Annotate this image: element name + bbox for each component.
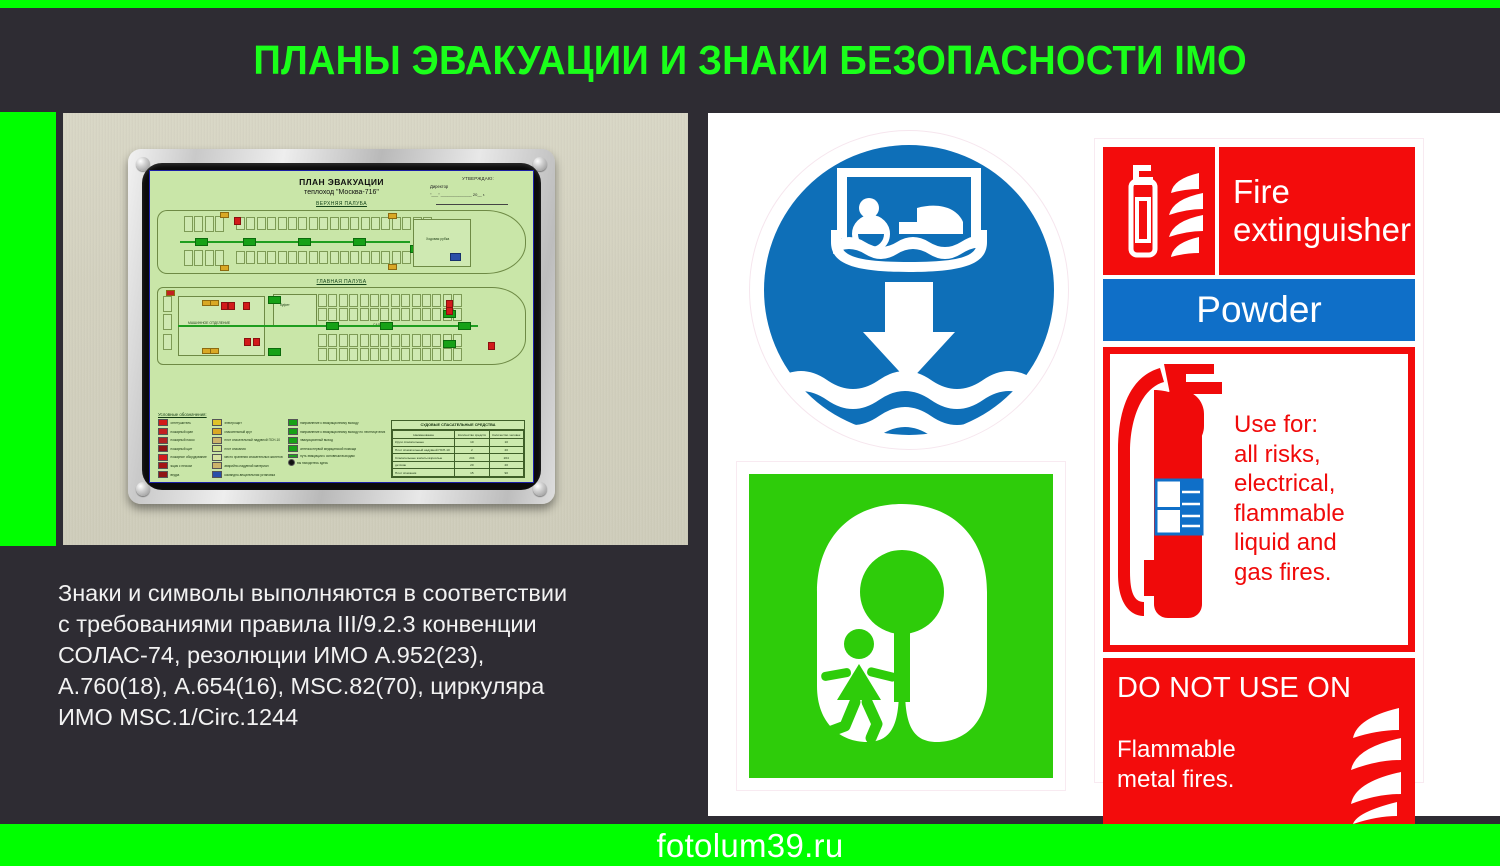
- cell-units: 15: [455, 469, 489, 477]
- cell-persons: 10: [489, 439, 524, 447]
- legend-item: плот спасательный надувной ПСН-10: [212, 437, 283, 444]
- table-row: Спасательные жилеты взрослые 204 204: [393, 454, 524, 462]
- legend-item-label: пожарный насос: [171, 438, 195, 442]
- legend-swatch-icon: [158, 428, 168, 435]
- legend-item: направление к эвакуационному выходу: [288, 419, 386, 426]
- cell-units: 2: [455, 446, 489, 454]
- legend-item-label: ящик с песком: [171, 464, 192, 468]
- watermark-text: fotolum39.ru: [656, 829, 843, 862]
- sign-outline: [749, 130, 1069, 450]
- page-title: ПЛАНЫ ЭВАКУАЦИИ И ЗНАКИ БЕЗОПАСНОСТИ IMO: [253, 37, 1247, 84]
- caption-line: СОЛАС-74, резолюции ИМО А.952(23),: [58, 640, 658, 671]
- main-deck-diagram: МАШИННОЕ ОТДЕЛЕНИЕ буфет САЛОН: [157, 287, 526, 365]
- legend-item-label: аварийно-надувной материал: [224, 464, 268, 468]
- table-row: Круги спасательные 10 10: [393, 439, 524, 447]
- legend-item: вы находитесь здесь: [288, 459, 386, 466]
- legend-column-3: направление к эвакуационному выходу напр…: [288, 419, 386, 478]
- legend-item: пожарное оборудование: [158, 454, 207, 461]
- legend-item: место хранения спасательных жилетов: [212, 454, 283, 461]
- legend-swatch-icon: [288, 454, 298, 458]
- legend-item-label: ведра: [171, 473, 180, 477]
- use-for-heading: Use for:: [1234, 410, 1408, 440]
- legend-item-label: путь эвакуации к основным выходам: [300, 454, 355, 458]
- plan-metal-frame: ПЛАН ЭВАКУАЦИИ теплоход "Москва-716" УТВ…: [128, 149, 555, 504]
- col-units: Количество средств: [455, 431, 489, 439]
- legend-item-label: место хранения спасательных жилетов: [224, 455, 282, 459]
- deck-label-main: ГЛАВНАЯ ПАЛУБА: [150, 279, 533, 285]
- left-accent-stripe: [0, 112, 56, 546]
- cell-name: Плот спасательный надувной ПСН-10: [393, 446, 455, 454]
- legend-item-label: пожарное оборудование: [171, 455, 207, 459]
- legend-column-2: электрощит спасательный круг плот спасат…: [212, 419, 283, 478]
- approval-signature-rule: [436, 204, 508, 205]
- upper-deck-diagram: Ходовая рубка: [157, 210, 526, 274]
- lsa-table-caption: СУДОВЫЕ СПАСАТЕЛЬНЫЕ СРЕДСТВА: [392, 421, 524, 430]
- legend-swatch-icon: [212, 419, 222, 426]
- slide-root: ПЛАНЫ ЭВАКУАЦИИ И ЗНАКИ БЕЗОПАСНОСТИ IMO…: [0, 0, 1500, 866]
- legend-swatch-icon: [212, 437, 222, 444]
- legend-item-label: эвакуационный выход: [300, 438, 333, 442]
- legend-swatch-icon: [158, 471, 168, 478]
- use-for-text: Use for: all risks, electrical, flammabl…: [1228, 354, 1408, 645]
- use-for-panel: Use for: all risks, electrical, flammabl…: [1103, 347, 1415, 652]
- legend-swatch-icon: [288, 428, 298, 435]
- flame-icon: [1339, 704, 1405, 824]
- cell-units: 10: [455, 439, 489, 447]
- caption-line: ИМО MSC.1/Circ.1244: [58, 702, 658, 733]
- legend-swatch-icon: [212, 462, 222, 469]
- cell-name: Плот спасания: [393, 469, 455, 477]
- use-for-line: all risks,: [1234, 440, 1408, 470]
- legend-item-label: направление к эвакуационному выходу по л…: [300, 430, 385, 434]
- legend-item-label: аптечка первой медицинской помощи: [300, 447, 356, 451]
- plan-sheet: ПЛАН ЭВАКУАЦИИ теплоход "Москва-716" УТВ…: [149, 170, 534, 483]
- legend-item-label: плот спасательный надувной ПСН-10: [224, 438, 280, 442]
- legend-swatch-icon: [212, 454, 222, 461]
- legend-swatch-icon: [288, 437, 298, 444]
- legend-item: аптечка первой медицинской помощи: [288, 445, 386, 452]
- cell-persons: 90: [489, 469, 524, 477]
- legend-item-label: плот спасания: [224, 447, 245, 451]
- legend-item: направление к эвакуационному выходу по л…: [288, 428, 386, 435]
- plan-legend: Условные обозначения: огнетушитель пожар…: [158, 412, 403, 478]
- plan-bezel: ПЛАН ЭВАКУАЦИИ теплоход "Москва-716" УТВ…: [142, 163, 541, 490]
- table-row: Плот спасательный надувной ПСН-10 2 20: [393, 446, 524, 454]
- legend-item-label: огнетушитель: [171, 421, 191, 425]
- title-band: ПЛАНЫ ЭВАКУАЦИИ И ЗНАКИ БЕЗОПАСНОСТИ IMO: [0, 8, 1500, 112]
- approval-block: УТВЕРЖДАЮ: Директор "___" ______________…: [430, 176, 526, 205]
- col-name: Наименование: [393, 431, 455, 439]
- legend-item: аварийно-надувной материал: [212, 462, 283, 469]
- legend-item: ящик с песком: [158, 462, 207, 469]
- you-are-here-icon: [288, 459, 295, 466]
- legend-item: ведра: [158, 471, 207, 478]
- approval-date: "___" ______________ 20__ г.: [430, 192, 526, 197]
- cell-persons: 20: [489, 446, 524, 454]
- signs-panel: Fire extinguisher Powder: [708, 113, 1500, 816]
- approval-word: УТВЕРЖДАЮ:: [430, 176, 526, 181]
- legend-item-label: направление к эвакуационному выходу: [300, 421, 358, 425]
- cell-units: 20: [455, 461, 489, 469]
- legend-item: эвакуационный выход: [288, 437, 386, 444]
- evacuation-plan-photo: ПЛАН ЭВАКУАЦИИ теплоход "Москва-716" УТВ…: [63, 113, 688, 545]
- table-row: Плот спасания 15 90: [393, 469, 524, 477]
- cell-persons: 204: [489, 454, 524, 462]
- extinguisher-illustration: [1110, 354, 1228, 645]
- sign-lower-lifeboat: [749, 130, 1069, 450]
- use-for-line: liquid and: [1234, 528, 1408, 558]
- legend-item: спасательный круг: [212, 428, 283, 435]
- caption-line: Знаки и символы выполняются в соответств…: [58, 578, 658, 609]
- legend-column-1: огнетушитель пожарный кран пожарный насо…: [158, 419, 207, 478]
- legend-item: плот спасания: [212, 445, 283, 452]
- legend-item-label: пожарный кран: [171, 430, 194, 434]
- legend-item-label: командно-вещательная установка: [224, 473, 275, 477]
- cell-name: детские: [393, 461, 455, 469]
- legend-item: командно-вещательная установка: [212, 471, 283, 478]
- do-not-use-panel: DO NOT USE ON Flammable metal fires.: [1103, 658, 1415, 836]
- legend-swatch-icon: [212, 471, 222, 478]
- legend-swatch-icon: [158, 454, 168, 461]
- legend-item: пожарный насос: [158, 437, 207, 444]
- legend-item-label: спасательный круг: [224, 430, 252, 434]
- fire-extinguisher-flame-icon: [1103, 147, 1215, 275]
- legend-swatch-icon: [288, 445, 298, 452]
- caption-text: Знаки и символы выполняются в соответств…: [58, 578, 658, 733]
- legend-item: огнетушитель: [158, 419, 207, 426]
- top-accent-rule: [0, 0, 1500, 8]
- approval-role: Директор: [430, 184, 526, 189]
- legend-swatch-icon: [158, 437, 168, 444]
- caption-line: с требованиями правила III/9.2.3 конвенц…: [58, 609, 658, 640]
- col-persons: Количество человек: [489, 431, 524, 439]
- table-row: детские 20 20: [393, 461, 524, 469]
- use-for-line: electrical,: [1234, 469, 1408, 499]
- legend-item-label: электрощит: [224, 421, 242, 425]
- cell-units: 204: [455, 454, 489, 462]
- caption-line: А.760(18), А.654(16), MSC.82(70), циркул…: [58, 671, 658, 702]
- footer-watermark-bar: fotolum39.ru: [0, 824, 1500, 866]
- legend-swatch-icon: [158, 445, 168, 452]
- room-label-wheelhouse: Ходовая рубка: [426, 237, 449, 241]
- sign-green-field: [749, 474, 1053, 778]
- cell-name: Спасательные жилеты взрослые: [393, 454, 455, 462]
- room-label-buffet: буфет: [280, 303, 290, 307]
- legend-swatch-icon: [158, 462, 168, 469]
- legend-item: пожарный щит: [158, 445, 207, 452]
- extinguishing-agent-band: Powder: [1103, 279, 1415, 341]
- legend-swatch-icon: [212, 445, 222, 452]
- fire-extinguisher-label: Fire extinguisher: [1219, 147, 1415, 275]
- legend-swatch-icon: [288, 419, 298, 426]
- fire-extinguisher-header: Fire extinguisher: [1103, 147, 1415, 275]
- sign-fire-extinguisher: Fire extinguisher Powder: [1094, 138, 1424, 783]
- use-for-line: gas fires.: [1234, 558, 1408, 588]
- legend-item: путь эвакуации к основным выходам: [288, 454, 386, 458]
- do-not-use-heading: DO NOT USE ON: [1117, 672, 1415, 705]
- sign-child-lifejacket: [736, 461, 1066, 791]
- cell-persons: 20: [489, 461, 524, 469]
- legend-swatch-icon: [158, 419, 168, 426]
- legend-heading: Условные обозначения:: [158, 412, 403, 417]
- legend-item-label: пожарный щит: [171, 447, 193, 451]
- legend-item: пожарный кран: [158, 428, 207, 435]
- legend-swatch-icon: [212, 428, 222, 435]
- child-lifejacket-icon: [749, 474, 1055, 780]
- cell-name: Круги спасательные: [393, 439, 455, 447]
- life-saving-appliances-table: СУДОВЫЕ СПАСАТЕЛЬНЫЕ СРЕДСТВА Наименован…: [391, 420, 525, 478]
- table-header-row: Наименование Количество средств Количест…: [393, 431, 524, 439]
- use-for-line: flammable: [1234, 499, 1408, 529]
- legend-item: электрощит: [212, 419, 283, 426]
- legend-item-label: вы находитесь здесь: [297, 461, 328, 465]
